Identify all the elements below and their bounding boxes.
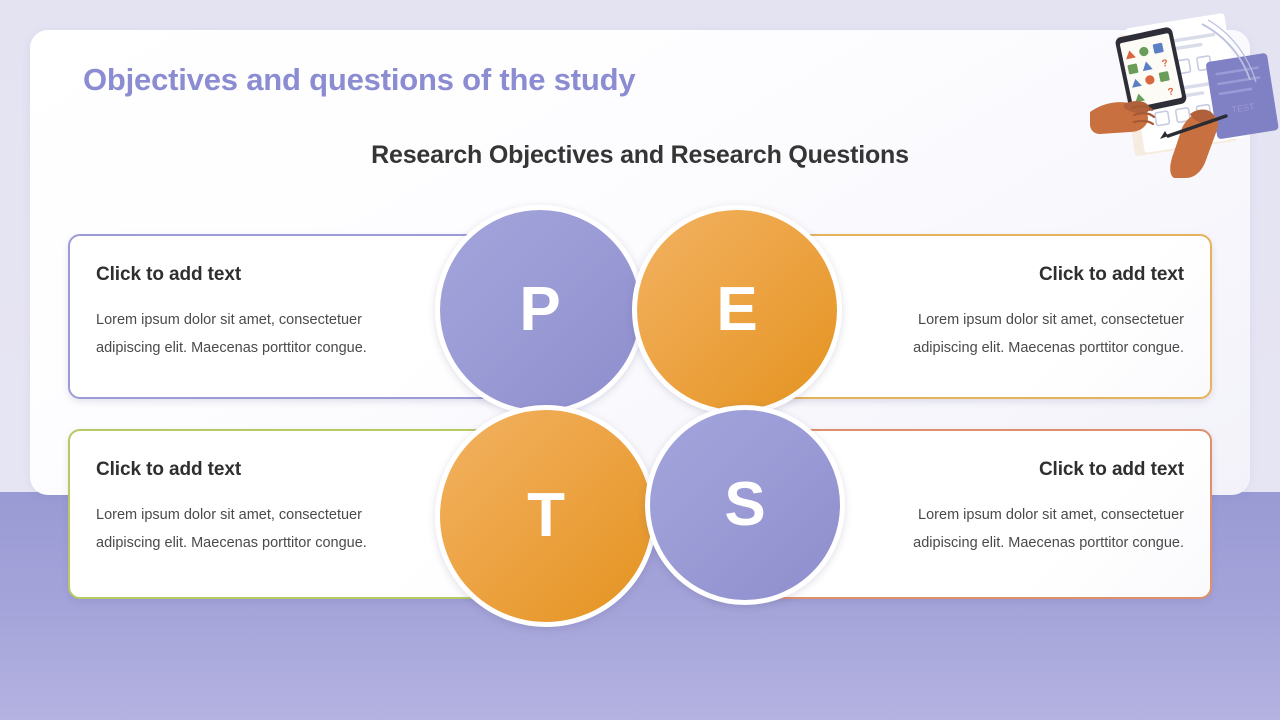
- text-box-bottom-right-body[interactable]: Lorem ipsum dolor sit amet, consectetuer…: [874, 501, 1184, 558]
- text-box-top-left-body[interactable]: Lorem ipsum dolor sit amet, consectetuer…: [96, 306, 406, 363]
- circle-t[interactable]: T: [435, 405, 657, 627]
- text-box-bottom-left-body[interactable]: Lorem ipsum dolor sit amet, consectetuer…: [96, 501, 406, 558]
- circle-e[interactable]: E: [632, 205, 842, 415]
- circle-s[interactable]: S: [645, 405, 845, 605]
- circle-p[interactable]: P: [435, 205, 645, 415]
- text-box-top-right-body[interactable]: Lorem ipsum dolor sit amet, consectetuer…: [874, 306, 1184, 363]
- circle-e-letter: E: [716, 279, 757, 341]
- circle-t-letter: T: [527, 485, 565, 547]
- slide-canvas: Objectives and questions of the study Re…: [0, 0, 1280, 720]
- page-subtitle: Research Objectives and Research Questio…: [0, 141, 1280, 170]
- page-title: Objectives and questions of the study: [83, 62, 635, 98]
- circle-p-letter: P: [519, 279, 560, 341]
- circle-s-letter: S: [724, 474, 765, 536]
